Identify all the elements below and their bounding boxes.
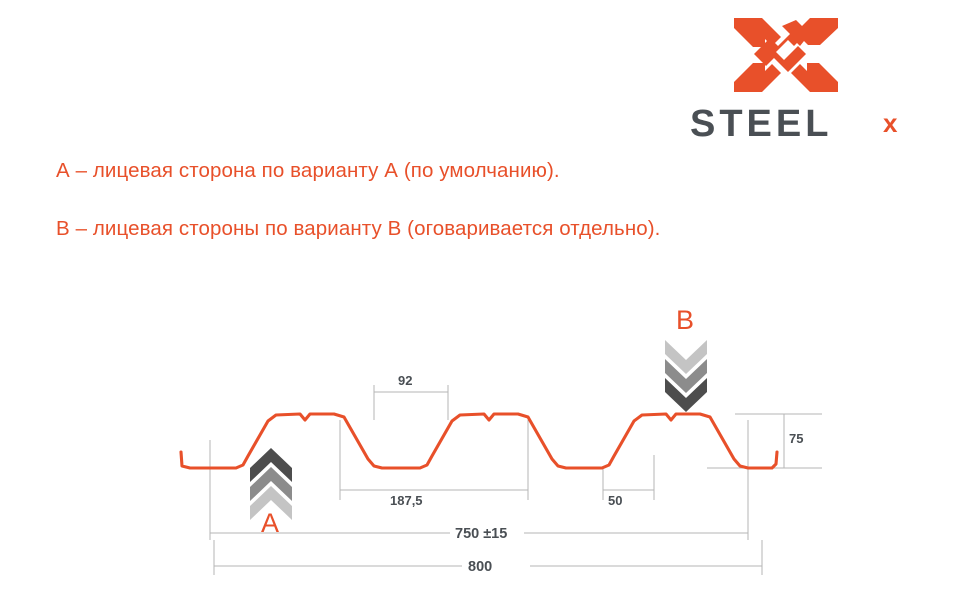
dimension-label-92: 92 (398, 374, 412, 387)
profile-technical-drawing (0, 0, 970, 597)
dimension-label-800: 800 (468, 560, 492, 575)
dimension-label-75: 75 (789, 432, 803, 445)
dimension-label-750: 750 ±15 (455, 527, 507, 542)
marker-b-chevrons (665, 340, 707, 412)
dimension-label-187-5: 187,5 (390, 494, 423, 507)
dimension-label-50: 50 (608, 494, 622, 507)
marker-b-label: В (676, 307, 694, 334)
marker-a-label: А (261, 510, 279, 537)
